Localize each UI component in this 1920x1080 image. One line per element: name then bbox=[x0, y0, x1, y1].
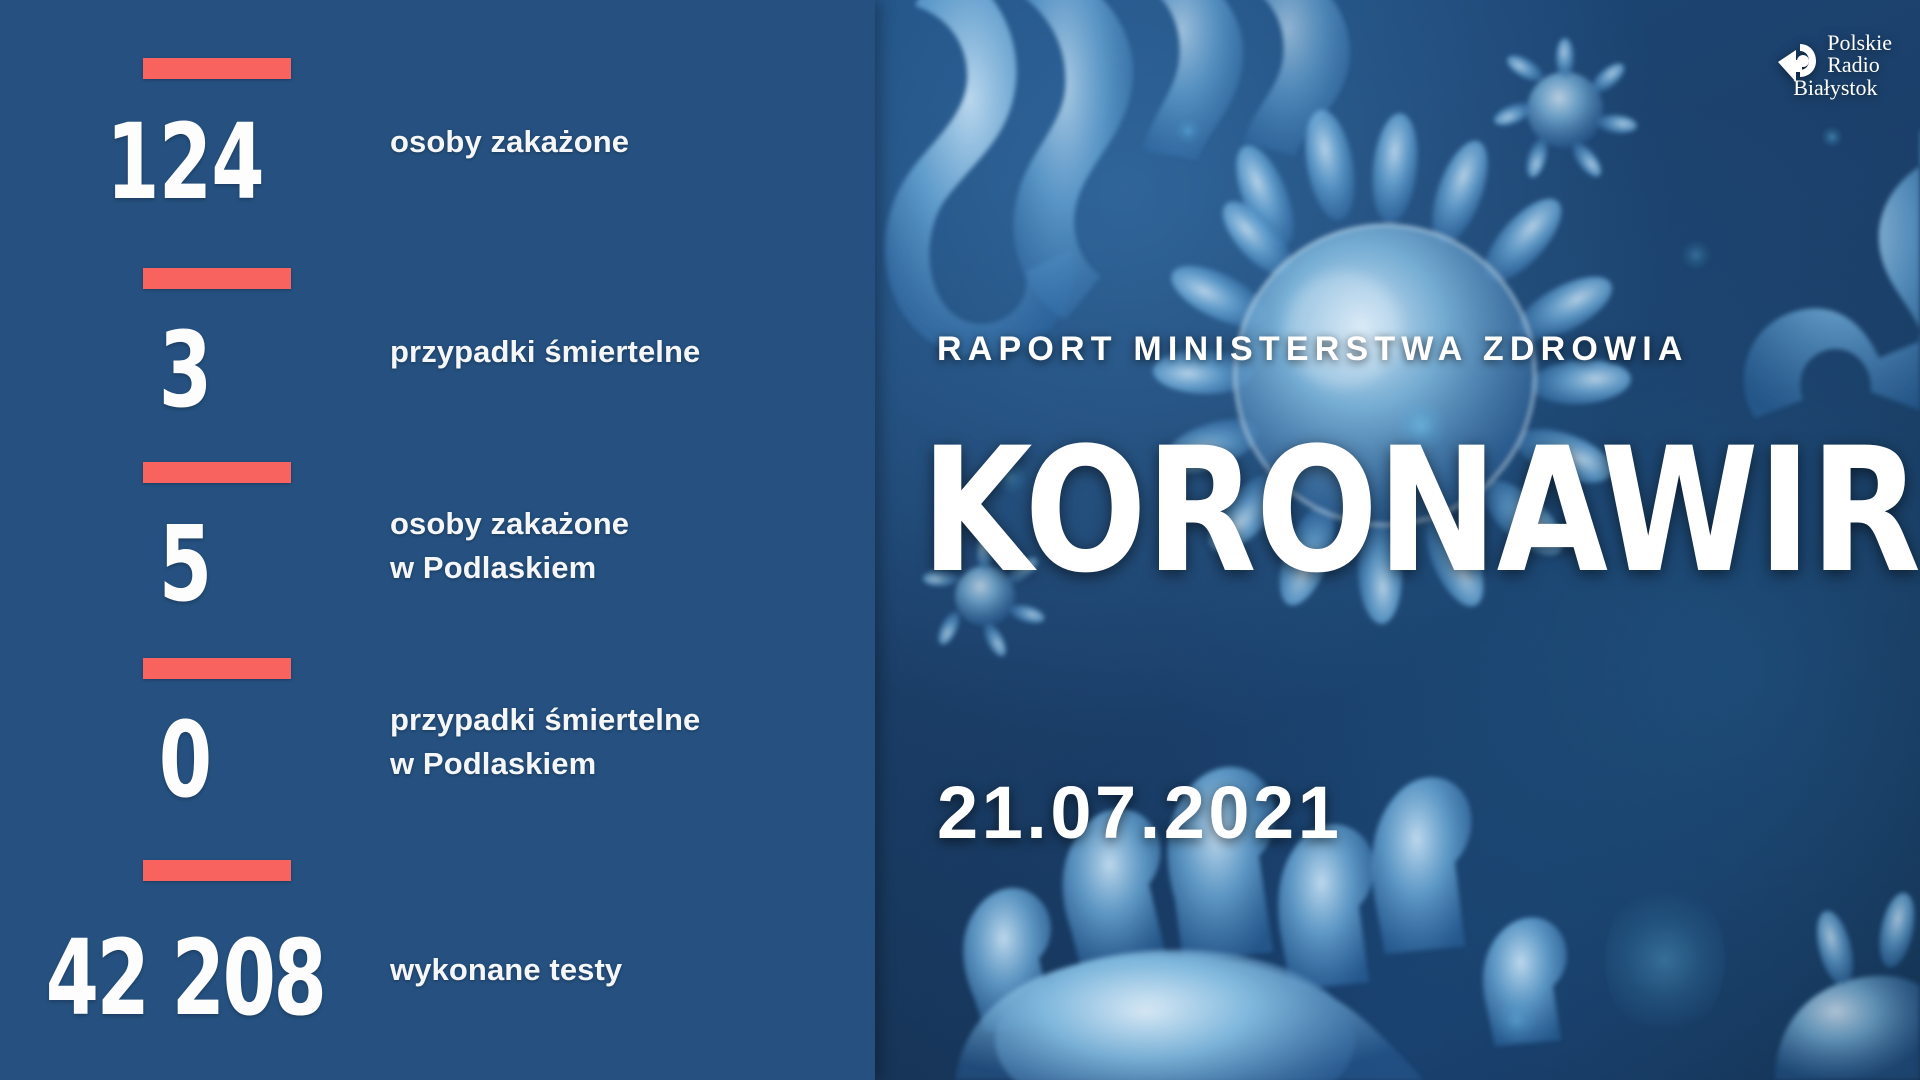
stat-label: przypadki śmiertelne bbox=[390, 330, 700, 374]
stat-label: osoby zakażone bbox=[390, 120, 629, 164]
accent-divider-bar bbox=[143, 462, 291, 483]
hero-headline: KORONAWIRUS bbox=[921, 425, 1920, 597]
stat-value: 0 bbox=[62, 708, 308, 812]
logo-wordmark: Polskie Radio Białystok bbox=[1827, 32, 1892, 99]
accent-divider-bar bbox=[143, 268, 291, 289]
stat-value: 3 bbox=[62, 318, 308, 422]
accent-divider-bar bbox=[143, 58, 291, 79]
stat-label: przypadki śmiertelne w Podlaskiem bbox=[390, 698, 700, 786]
covid-report-poster: 124 osoby zakażone 3 przypadki śmierteln… bbox=[0, 0, 1920, 1080]
stat-value: 124 bbox=[62, 110, 308, 214]
hero-date: 21.07.2021 bbox=[937, 770, 1342, 855]
logo-line-polskie: Polskie bbox=[1827, 32, 1892, 54]
accent-divider-bar bbox=[143, 658, 291, 679]
logo-line-radio: Radio bbox=[1827, 54, 1892, 76]
statistics-panel: 124 osoby zakażone 3 przypadki śmierteln… bbox=[0, 0, 875, 1080]
stat-label: osoby zakażone w Podlaskiem bbox=[390, 502, 629, 590]
accent-divider-bar bbox=[143, 860, 291, 881]
hero-kicker: RAPORT MINISTERSTWA ZDROWIA bbox=[937, 330, 1689, 369]
stat-label: wykonane testy bbox=[390, 948, 622, 992]
polskie-radio-bialystok-logo[interactable]: Polskie Radio Białystok bbox=[1776, 32, 1892, 99]
stat-value: 5 bbox=[62, 512, 308, 616]
hero-panel: RAPORT MINISTERSTWA ZDROWIA KORONAWIRUS … bbox=[875, 0, 1920, 1080]
stat-value: 42 208 bbox=[29, 926, 341, 1030]
logo-line-bialystok: Białystok bbox=[1793, 77, 1892, 99]
